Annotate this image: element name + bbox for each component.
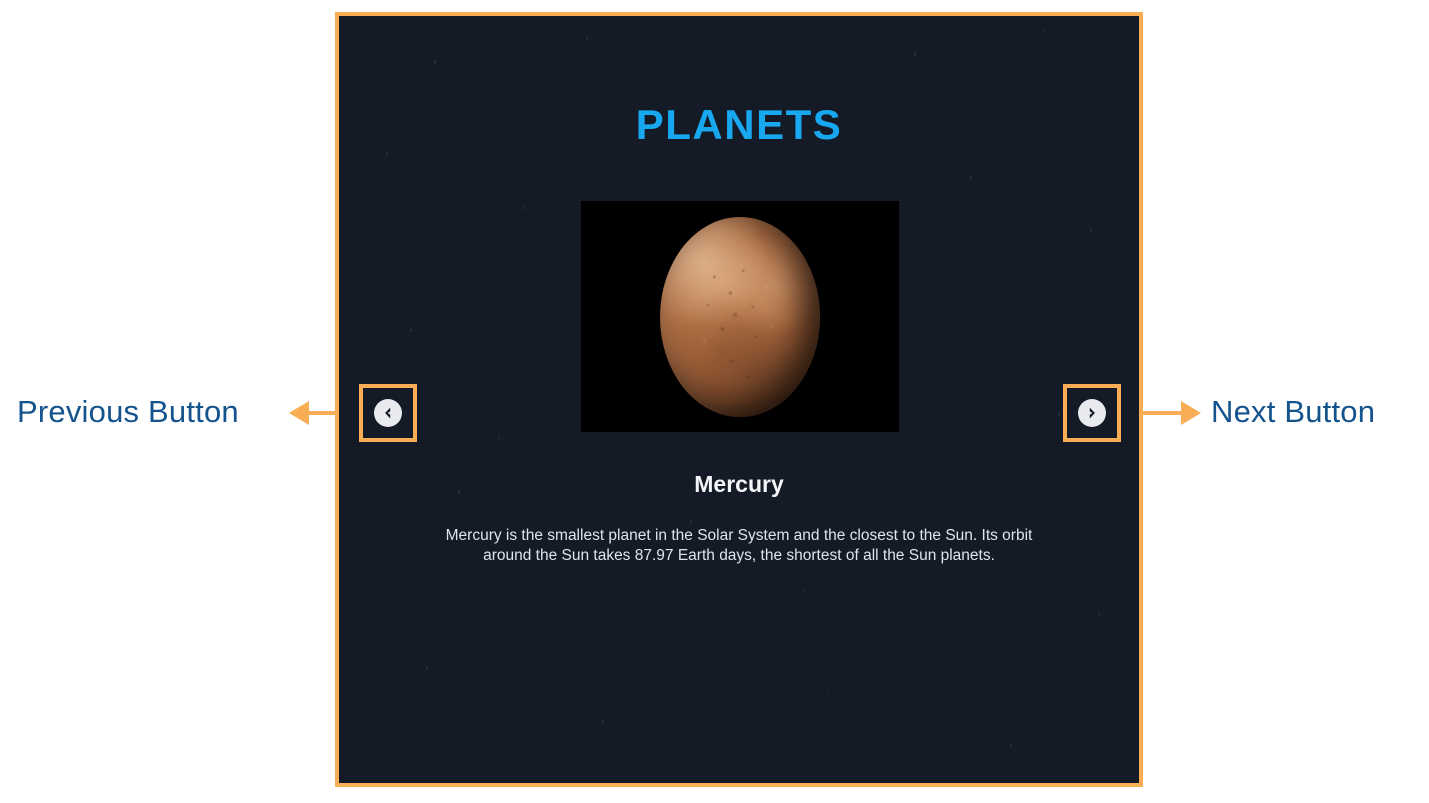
- planet-craters-texture: [660, 217, 820, 417]
- highlight-box-previous-button: [359, 384, 417, 442]
- annotation-arrow-head-previous: [289, 401, 309, 425]
- annotation-label-previous: Previous Button: [17, 396, 239, 427]
- planet-name: Mercury: [339, 473, 1139, 496]
- planets-app-window: PLANETS Mercury Mercury is the smallest …: [335, 12, 1143, 787]
- planet-sphere-graphic: [660, 217, 820, 417]
- annotation-label-next: Next Button: [1211, 396, 1375, 427]
- highlight-box-next-button: [1063, 384, 1121, 442]
- annotation-arrow-head-next: [1181, 401, 1201, 425]
- page-title: PLANETS: [339, 104, 1139, 146]
- planet-image: [581, 201, 899, 432]
- planet-description: Mercury is the smallest planet in the So…: [439, 526, 1039, 566]
